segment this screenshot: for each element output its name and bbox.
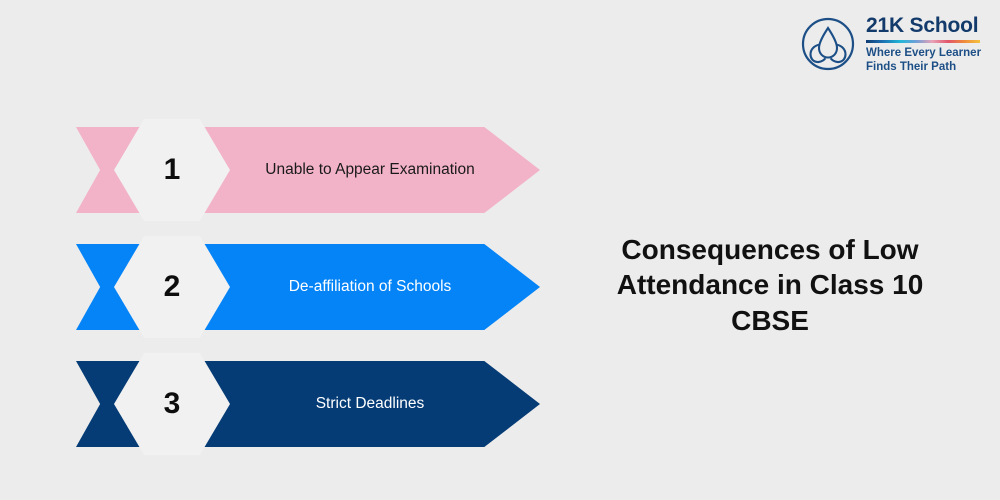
lotus-in-circle-icon bbox=[800, 16, 856, 72]
step-label-2: De-affiliation of Schools bbox=[236, 244, 504, 330]
brand-tagline: Where Every Learner Finds Their Path bbox=[866, 46, 981, 74]
brand-name: 21K School bbox=[866, 15, 981, 37]
step-label-1: Unable to Appear Examination bbox=[236, 127, 504, 213]
step-number-2: 2 bbox=[164, 272, 181, 302]
list-item: 1 Unable to Appear Examination bbox=[76, 127, 540, 213]
infographic-canvas: 21K School Where Every Learner Finds The… bbox=[0, 0, 1000, 500]
step-number-3: 3 bbox=[164, 389, 181, 419]
brand-gradient-rule bbox=[866, 40, 980, 43]
brand-logo: 21K School Where Every Learner Finds The… bbox=[800, 12, 990, 76]
step-number-1: 1 bbox=[164, 155, 181, 185]
step-label-3: Strict Deadlines bbox=[236, 361, 504, 447]
brand-tagline-line-1: Where Every Learner bbox=[866, 46, 981, 60]
list-item: 2 De-affiliation of Schools bbox=[76, 244, 540, 330]
page-title: Consequences of Low Attendance in Class … bbox=[575, 232, 965, 338]
list-item: 3 Strict Deadlines bbox=[76, 361, 540, 447]
brand-wordmark: 21K School Where Every Learner Finds The… bbox=[866, 14, 981, 73]
brand-tagline-line-2: Finds Their Path bbox=[866, 60, 981, 74]
